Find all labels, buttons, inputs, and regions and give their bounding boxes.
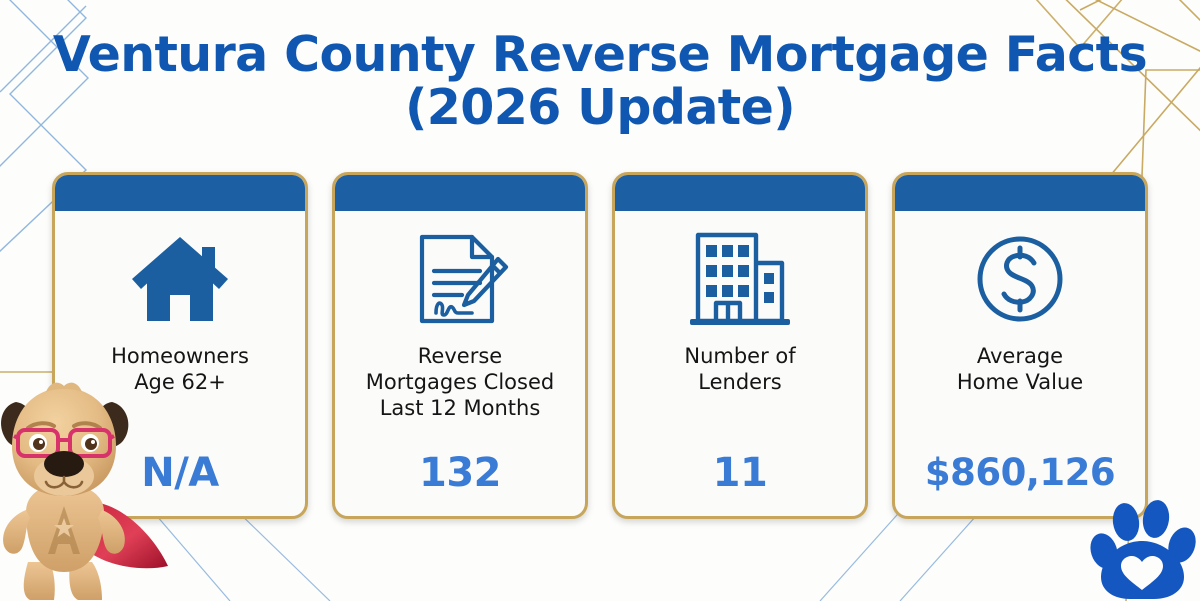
card-label: Average Home Value <box>957 343 1083 395</box>
card-label-line-1: Number of <box>684 343 795 369</box>
card-value: $860,126 <box>925 450 1115 496</box>
card-body: Number of Lenders 11 <box>615 211 865 516</box>
card-body: Average Home Value $860,126 <box>895 211 1145 516</box>
card-label-line-1: Homeowners <box>111 343 249 369</box>
house-icon <box>128 225 232 333</box>
card-label: Reverse Mortgages Closed Last 12 Months <box>366 343 554 421</box>
card-value: 132 <box>419 450 501 496</box>
card-label-line-1: Reverse <box>366 343 554 369</box>
card-header-bar <box>895 175 1145 211</box>
stat-card-mortgages-closed: Reverse Mortgages Closed Last 12 Months … <box>332 172 588 519</box>
card-header-bar <box>55 175 305 211</box>
signed-document-icon <box>410 225 510 333</box>
card-value: 11 <box>713 450 768 496</box>
card-label: Number of Lenders <box>684 343 795 395</box>
paw-print-heart-logo <box>1088 495 1196 599</box>
card-label-line-1: Average <box>957 343 1083 369</box>
superhero-dog-mascot <box>0 376 172 601</box>
page-title: Ventura County Reverse Mortgage Facts (2… <box>0 28 1200 134</box>
card-label-line-2: Mortgages Closed <box>366 369 554 395</box>
card-label-line-2: Lenders <box>684 369 795 395</box>
stat-card-row: Homeowners Age 62+ N/A <box>52 172 1148 519</box>
page-title-line-1: Ventura County Reverse Mortgage Facts <box>0 28 1200 81</box>
office-building-icon <box>688 225 792 333</box>
card-label-line-2: Home Value <box>957 369 1083 395</box>
stat-card-home-value: Average Home Value $860,126 <box>892 172 1148 519</box>
card-header-bar <box>335 175 585 211</box>
card-label-line-3: Last 12 Months <box>366 395 554 421</box>
dollar-coin-icon <box>970 225 1070 333</box>
stat-card-lenders: Number of Lenders 11 <box>612 172 868 519</box>
card-body: Reverse Mortgages Closed Last 12 Months … <box>335 211 585 516</box>
page-title-line-2: (2026 Update) <box>0 81 1200 134</box>
card-header-bar <box>615 175 865 211</box>
